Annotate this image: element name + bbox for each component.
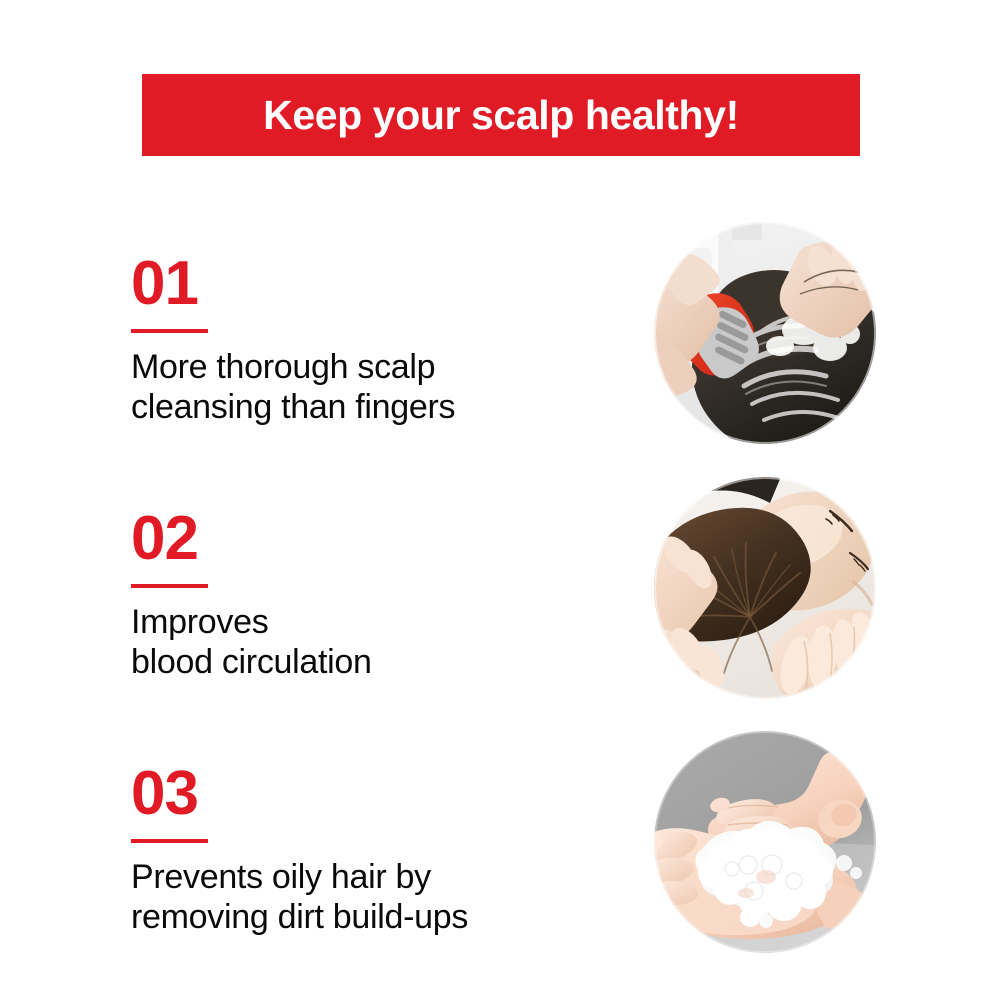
feature-description-line-2: blood circulation xyxy=(131,642,601,682)
feature-divider-01 xyxy=(131,329,208,333)
feature-number-02: 02 xyxy=(131,508,601,570)
feature-description-line-1: More thorough scalp xyxy=(131,347,601,387)
feature-description-line-2: cleansing than fingers xyxy=(131,387,601,427)
feature-description-line-1: Prevents oily hair by xyxy=(131,857,601,897)
feature-description-03: Prevents oily hair by removing dirt buil… xyxy=(131,857,601,937)
foam-in-hands-photo xyxy=(654,731,876,953)
feature-divider-02 xyxy=(131,584,208,588)
feature-divider-03 xyxy=(131,839,208,843)
feature-description-line-1: Improves xyxy=(131,602,601,642)
header-banner: Keep your scalp healthy! xyxy=(142,74,860,156)
feature-text-block-02: 02 Improves blood circulation xyxy=(131,508,601,682)
feature-description-02: Improves blood circulation xyxy=(131,602,601,682)
page-title: Keep your scalp healthy! xyxy=(263,95,739,136)
scalp-brush-shampoo-photo xyxy=(654,222,876,444)
feature-description-line-2: removing dirt build-ups xyxy=(131,897,601,937)
feature-text-block-01: 01 More thorough scalp cleansing than fi… xyxy=(131,253,601,427)
head-massage-photo xyxy=(654,477,876,699)
feature-number-01: 01 xyxy=(131,253,601,315)
feature-number-03: 03 xyxy=(131,763,601,825)
poster-canvas: Keep your scalp healthy! 01 More thoroug… xyxy=(0,0,1000,1000)
feature-description-01: More thorough scalp cleansing than finge… xyxy=(131,347,601,427)
feature-text-block-03: 03 Prevents oily hair by removing dirt b… xyxy=(131,763,601,937)
